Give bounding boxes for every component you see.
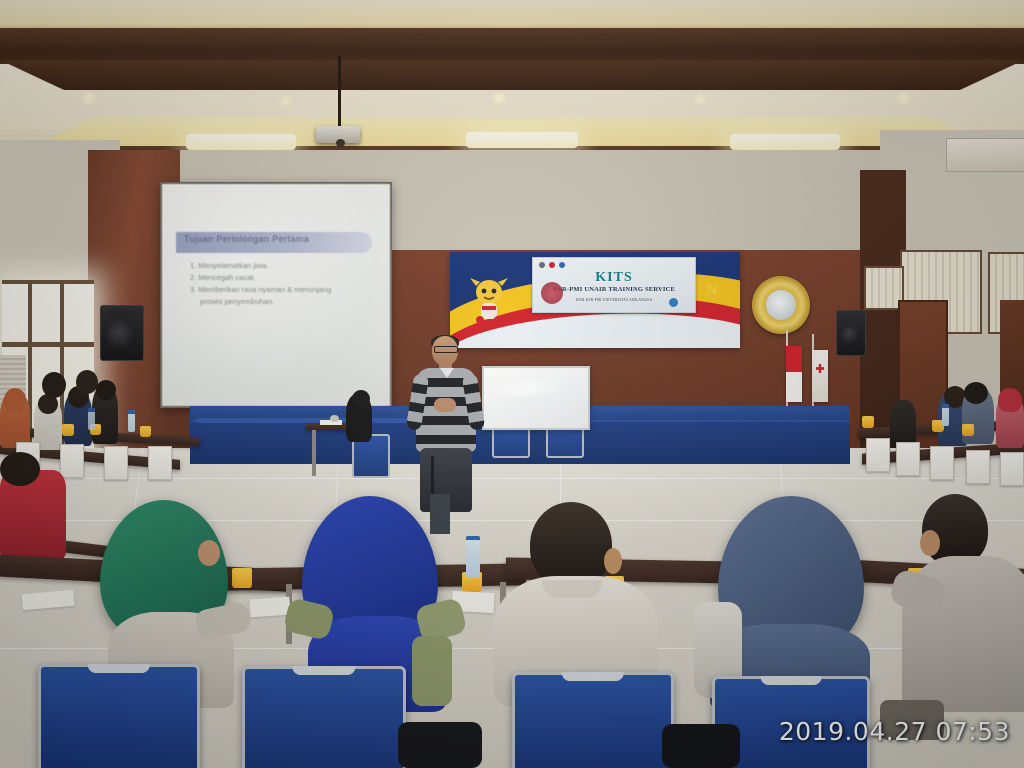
eyeglasses-icon [434, 346, 458, 353]
head [352, 390, 370, 408]
slide-bullets: 1. Menyelamatkan jiwa. 2. Mencegah cacat… [190, 260, 370, 308]
bag [662, 724, 740, 768]
head [964, 382, 988, 404]
fluorescent-light [186, 134, 296, 150]
hijab [998, 388, 1022, 412]
bag [398, 722, 482, 768]
hijab [4, 388, 26, 412]
participant-right [890, 400, 916, 448]
name-card [896, 442, 920, 476]
presenter-hands [434, 398, 456, 412]
name-card [148, 446, 172, 480]
drink-cup [862, 416, 874, 428]
indonesia-flag-icon [786, 346, 802, 402]
mascot-icon [466, 276, 512, 328]
name-card [930, 446, 954, 480]
participant-steel-hijab [700, 496, 876, 706]
event-banner: KITS KSR-PMI UNAIR TRAINING SERVICE UKM … [450, 252, 740, 348]
name-card [966, 450, 990, 484]
downlight-icon [80, 92, 98, 104]
ceiling-beam-inner [0, 60, 1024, 90]
wall-speaker-icon [100, 305, 144, 361]
projector-mount-rod [338, 56, 341, 128]
face [604, 548, 622, 574]
whiteboard [482, 366, 590, 430]
banner-badge-icon [669, 298, 678, 307]
distant-person-legs [430, 494, 450, 534]
water-bottle [88, 408, 95, 430]
downlight-icon [692, 94, 708, 105]
presentation-slide: Tujuan Pertolongan Pertama 1. Menyelamat… [162, 184, 390, 406]
slide-bullet: 3. Memberikan rasa nyaman & menunjang [190, 284, 370, 296]
water-bottle [466, 536, 480, 578]
timestamp: 2019.04.27 07:53 [779, 717, 1010, 746]
paper [249, 597, 290, 618]
downlight-icon [490, 92, 508, 104]
name-card [60, 444, 84, 478]
name-card [866, 438, 890, 472]
banner-letter-mark: N [706, 282, 718, 300]
slide-bullet: 2. Mencegah cacat. [190, 272, 370, 284]
organization-flag-icon [812, 350, 828, 402]
banner-photo-icon [541, 282, 563, 304]
face [198, 540, 220, 566]
logo-icon [559, 262, 565, 268]
head [0, 452, 40, 486]
participant-boy-gray-shirt [896, 494, 1024, 714]
slide-bullet: 1. Menyelamatkan jiwa. [190, 260, 370, 272]
face [920, 530, 940, 556]
chair[interactable] [512, 672, 674, 768]
banner-card: KITS KSR-PMI UNAIR TRAINING SERVICE UKM … [532, 257, 696, 313]
university-emblem-icon [752, 276, 810, 334]
chair[interactable] [38, 664, 200, 768]
name-card [1000, 452, 1024, 486]
presenter [406, 336, 484, 512]
water-bottle [128, 410, 135, 432]
pmi-logo-icon [549, 262, 555, 268]
downlight-icon [894, 92, 912, 104]
drink-cup [62, 424, 74, 436]
banner-logos [539, 262, 565, 268]
projection-screen: Tujuan Pertolongan Pertama 1. Menyelamat… [160, 182, 392, 408]
wall-speaker-right-icon [836, 310, 866, 356]
object-on-table [330, 415, 339, 422]
collar [542, 580, 602, 598]
water-bottle [942, 404, 949, 426]
chair[interactable] [242, 666, 406, 768]
fluorescent-light [730, 134, 840, 150]
sleeve [412, 636, 452, 706]
air-conditioner-icon [946, 138, 1024, 172]
head [76, 370, 98, 394]
seminar-photo: Tujuan Pertolongan Pertama 1. Menyelamat… [0, 0, 1024, 768]
head [42, 372, 66, 398]
drink-cup [962, 424, 974, 436]
stage-rail [196, 418, 436, 423]
slide-bullet: proses penyembuhan. [190, 296, 370, 308]
name-card [104, 446, 128, 480]
projector-lens-icon [336, 139, 345, 147]
fluorescent-light [466, 132, 578, 148]
downlight-icon [278, 96, 294, 107]
head [96, 380, 116, 400]
projector-icon [316, 126, 360, 143]
slide-title: Tujuan Pertolongan Pertama [184, 234, 374, 244]
table-leg [312, 430, 316, 476]
drink-cup [140, 426, 151, 437]
logo-icon [539, 262, 545, 268]
